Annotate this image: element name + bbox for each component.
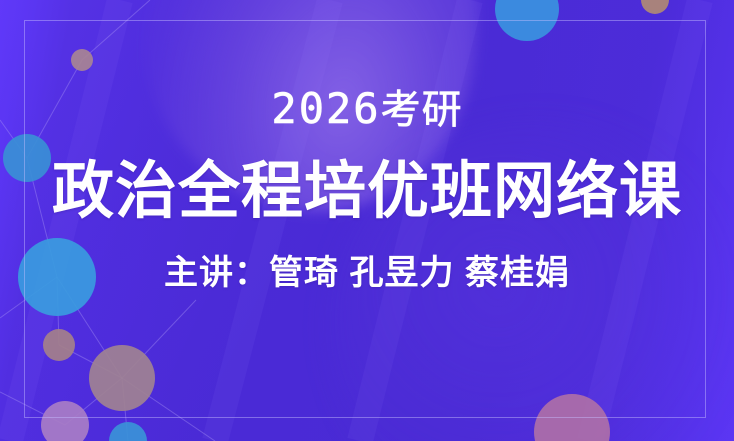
page-title: 政治全程培优班网络课 (52, 161, 682, 223)
course-promo-banner: 2026考研 政治全程培优班网络课 主讲：管琦 孔昱力 蔡桂娟 (0, 0, 734, 441)
eyebrow-year-label: 2026考研 (271, 88, 462, 130)
banner-content: 2026考研 政治全程培优班网络课 主讲：管琦 孔昱力 蔡桂娟 (0, 0, 734, 441)
presenter-label: 主讲：管琦 孔昱力 蔡桂娟 (164, 256, 570, 290)
eyebrow-year-number: 2026 (271, 84, 380, 133)
eyebrow-year-suffix: 考研 (381, 88, 463, 132)
